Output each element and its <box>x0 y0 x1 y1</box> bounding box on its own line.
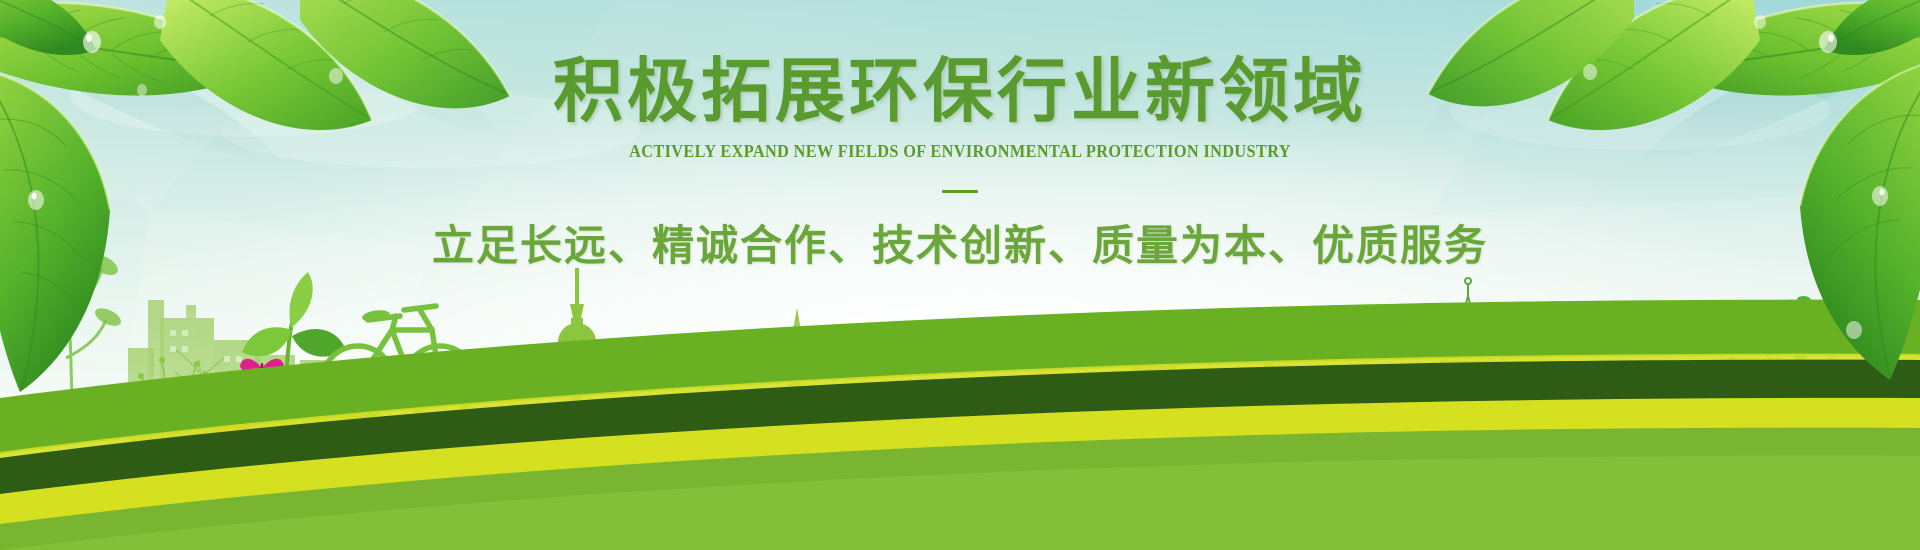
leaves-top-right <box>0 0 1920 550</box>
eco-banner: 积极拓展环保行业新领域 ACTIVELY EXPAND NEW FIELDS O… <box>0 0 1920 550</box>
